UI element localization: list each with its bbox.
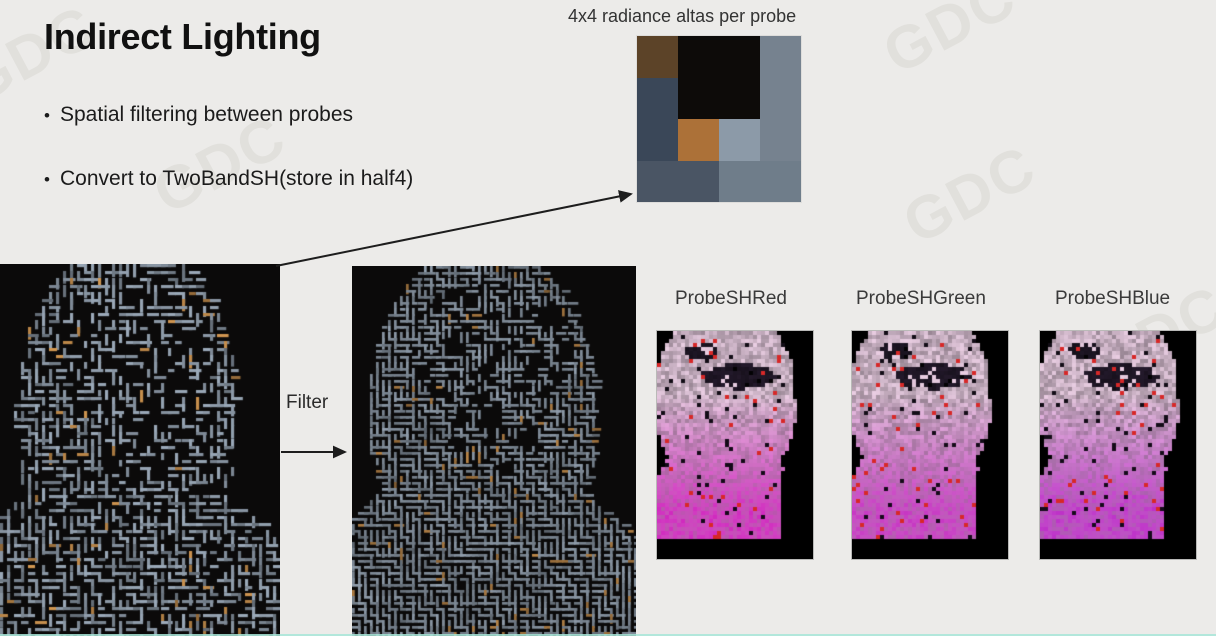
bullet-item: • Spatial filtering between probes	[44, 103, 353, 127]
atlas-callout-arrow	[276, 194, 631, 266]
bullet-marker-icon: •	[44, 171, 60, 188]
atlas-cell-2	[719, 36, 760, 78]
probe-sh-blue-label: ProbeSHBlue	[1055, 288, 1170, 310]
probe-sh-blue-canvas	[1040, 331, 1196, 559]
atlas-caption: 4x4 radiance altas per probe	[568, 6, 796, 27]
bullet-label: Spatial filtering between probes	[60, 103, 353, 127]
probe-sh-blue-image	[1039, 330, 1197, 560]
atlas-cell-7	[760, 78, 801, 120]
probe-sh-green-canvas	[852, 331, 1008, 559]
probe-texture-filtered-canvas	[352, 266, 636, 636]
watermark-text: GDC	[872, 0, 1027, 88]
probe-texture-unfiltered-canvas	[0, 264, 280, 636]
probe-sh-red-label: ProbeSHRed	[675, 288, 787, 310]
atlas-cell-14	[719, 161, 760, 203]
atlas-cell-3	[760, 36, 801, 78]
atlas-cell-10	[719, 119, 760, 161]
bullet-label: Convert to TwoBandSH(store in half4)	[60, 167, 413, 191]
filter-label: Filter	[286, 392, 328, 414]
probe-sh-red-canvas	[657, 331, 813, 559]
probe-texture-filtered	[352, 266, 636, 636]
atlas-cell-9	[678, 119, 719, 161]
atlas-cell-8	[637, 119, 678, 161]
atlas-cell-15	[760, 161, 801, 203]
probe-sh-green-image	[851, 330, 1009, 560]
probe-texture-unfiltered	[0, 264, 280, 636]
slide-canvas: GDC GDC GDC GDC GDC GDC GDC Indirect Lig…	[0, 0, 1216, 636]
atlas-cell-12	[637, 161, 678, 203]
probe-sh-red-image	[656, 330, 814, 560]
atlas-cell-13	[678, 161, 719, 203]
atlas-cell-1	[678, 36, 719, 78]
probe-sh-green-label: ProbeSHGreen	[856, 288, 986, 310]
page-title: Indirect Lighting	[44, 16, 321, 58]
atlas-cell-5	[678, 78, 719, 120]
radiance-atlas-grid	[637, 36, 801, 202]
atlas-cell-11	[760, 119, 801, 161]
bullet-item: • Convert to TwoBandSH(store in half4)	[44, 167, 413, 191]
atlas-cell-6	[719, 78, 760, 120]
watermark-text: GDC	[892, 131, 1047, 257]
bullet-marker-icon: •	[44, 107, 60, 124]
atlas-cell-0	[637, 36, 678, 78]
atlas-cell-4	[637, 78, 678, 120]
